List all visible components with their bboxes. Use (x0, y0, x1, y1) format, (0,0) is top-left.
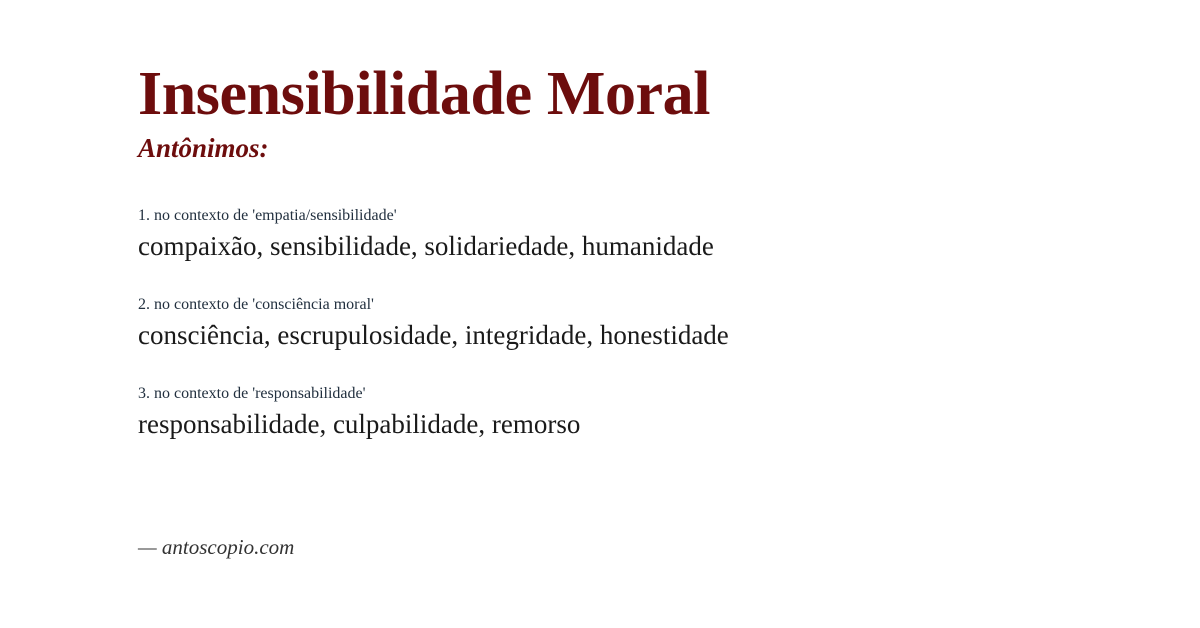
page-title: Insensibilidade Moral (138, 62, 710, 126)
list-item: 3. no contexto de 'responsabilidade' res… (138, 383, 1138, 441)
list-item: 2. no contexto de 'consciência moral' co… (138, 294, 1138, 352)
list-item: 1. no contexto de 'empatia/sensibilidade… (138, 205, 1138, 263)
source-attribution: — antoscopio.com (138, 534, 294, 560)
entry-terms: responsabilidade, culpabilidade, remorso (138, 407, 1138, 441)
antonyms-card: Insensibilidade Moral Antônimos: 1. no c… (0, 0, 1200, 628)
entry-terms: consciência, escrupulosidade, integridad… (138, 318, 1138, 352)
entry-terms: compaixão, sensibilidade, solidariedade,… (138, 229, 1138, 263)
entry-context-label: 2. no contexto de 'consciência moral' (138, 294, 1138, 315)
entry-context-label: 3. no contexto de 'responsabilidade' (138, 383, 1138, 404)
section-subtitle: Antônimos: (138, 132, 269, 164)
antonym-entry-list: 1. no contexto de 'empatia/sensibilidade… (138, 205, 1138, 441)
entry-context-label: 1. no contexto de 'empatia/sensibilidade… (138, 205, 1138, 226)
